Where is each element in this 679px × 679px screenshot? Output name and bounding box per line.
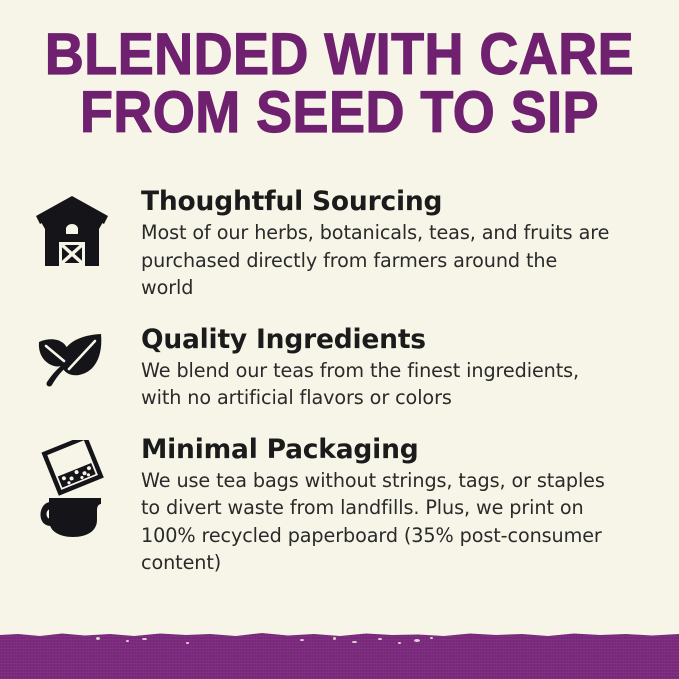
headline-line-2: FROM SEED TO SIP bbox=[24, 84, 655, 142]
feature-body: Thoughtful Sourcing Most of our herbs, b… bbox=[141, 186, 648, 302]
feature-body: Quality Ingredients We blend our teas fr… bbox=[141, 324, 648, 412]
page-title: BLENDED WITH CARE FROM SEED TO SIP bbox=[24, 26, 655, 142]
band-speck bbox=[300, 639, 304, 641]
feature-item-quality-ingredients: Quality Ingredients We blend our teas fr… bbox=[33, 324, 648, 412]
band-speck bbox=[333, 637, 336, 640]
feature-list: Thoughtful Sourcing Most of our herbs, b… bbox=[33, 186, 648, 599]
band-speck bbox=[378, 638, 382, 640]
bottom-color-band bbox=[0, 633, 679, 679]
feature-title: Minimal Packaging bbox=[141, 434, 648, 466]
band-speck bbox=[352, 641, 357, 643]
band-speck bbox=[186, 642, 189, 644]
infographic-panel: BLENDED WITH CARE FROM SEED TO SIP bbox=[0, 0, 679, 679]
feature-description: We blend our teas from the finest ingred… bbox=[141, 357, 611, 412]
feature-item-thoughtful-sourcing: Thoughtful Sourcing Most of our herbs, b… bbox=[33, 186, 648, 302]
band-speck bbox=[398, 642, 401, 644]
band-speck bbox=[142, 638, 147, 640]
feature-description: We use tea bags without strings, tags, o… bbox=[141, 467, 616, 577]
headline-line-1: BLENDED WITH CARE bbox=[24, 26, 655, 84]
band-speck bbox=[126, 640, 129, 642]
feature-item-minimal-packaging: Minimal Packaging We use tea bags withou… bbox=[33, 434, 648, 577]
band-speck bbox=[414, 639, 420, 642]
band-speck bbox=[96, 637, 100, 640]
band-speck bbox=[430, 637, 433, 639]
feature-title: Thoughtful Sourcing bbox=[141, 186, 648, 218]
teabag-mug-icon bbox=[33, 434, 141, 540]
barn-icon bbox=[33, 186, 141, 270]
band-torn-edge bbox=[0, 633, 679, 641]
feature-description: Most of our herbs, botanicals, teas, and… bbox=[141, 219, 611, 302]
feature-body: Minimal Packaging We use tea bags withou… bbox=[141, 434, 648, 577]
leaves-icon bbox=[33, 324, 141, 392]
feature-title: Quality Ingredients bbox=[141, 324, 648, 356]
